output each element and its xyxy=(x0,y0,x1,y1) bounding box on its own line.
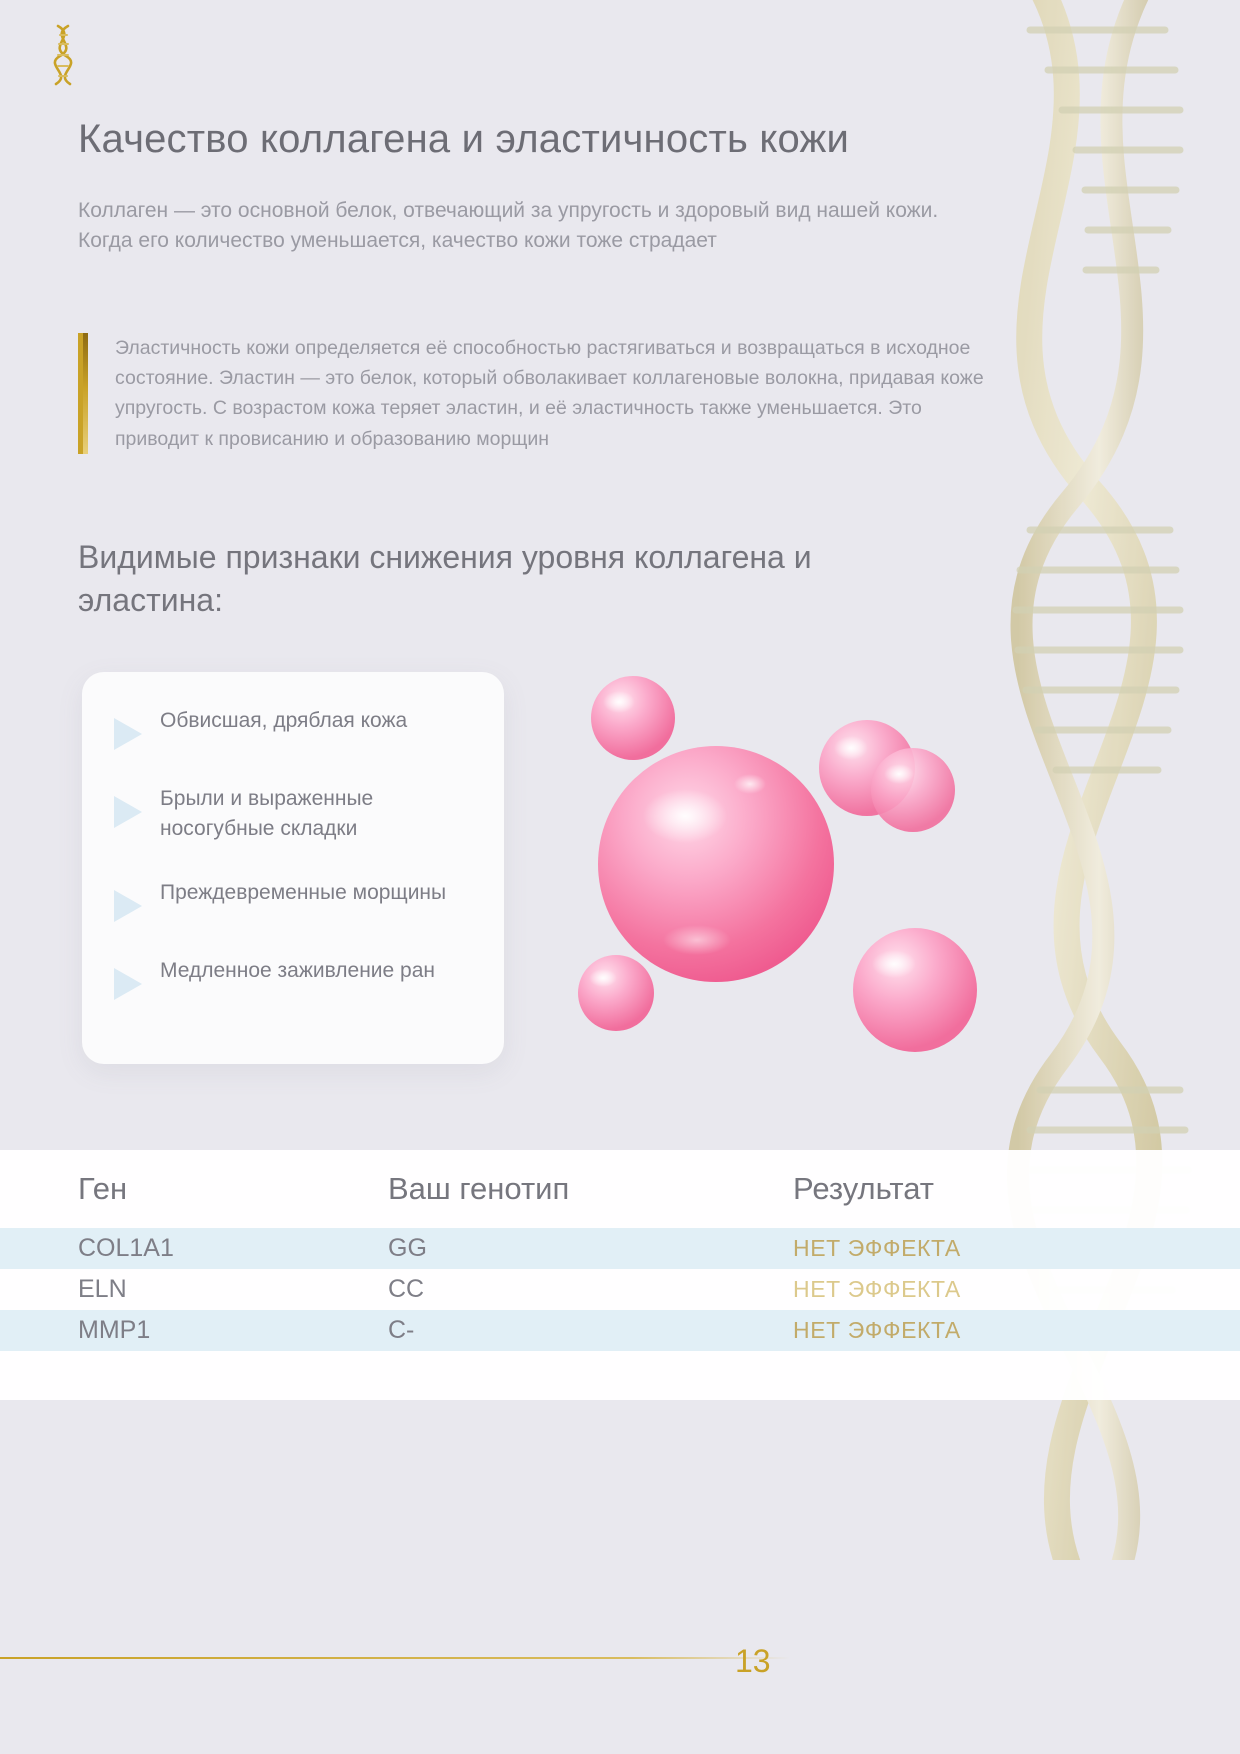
column-header-gene: Ген xyxy=(78,1171,388,1207)
cell-result: НЕТ ЭФФЕКТА xyxy=(793,1276,1162,1303)
page-number: 13 xyxy=(735,1643,771,1680)
page-footer: 13 xyxy=(0,1554,1240,1754)
cell-result: НЕТ ЭФФЕКТА xyxy=(793,1235,1162,1262)
cell-result: НЕТ ЭФФЕКТА xyxy=(793,1317,1162,1344)
triangle-right-icon xyxy=(114,890,142,922)
symptoms-list: Обвисшая, дряблая кожа Брыли и выраженны… xyxy=(106,702,486,1000)
table-header-row: Ген Ваш генотип Результат xyxy=(0,1150,1240,1228)
cell-genotype: CC xyxy=(388,1275,793,1304)
symptoms-card: Обвисшая, дряблая кожа Брыли и выраженны… xyxy=(82,672,504,1064)
section-heading-symptoms: Видимые признаки снижения уровня коллаге… xyxy=(78,536,898,622)
collagen-bubbles-illustration xyxy=(545,660,1025,1090)
page-title: Качество коллагена и эластичность кожи xyxy=(78,116,978,163)
footer-rule xyxy=(0,1657,790,1659)
callout-block: Эластичность кожи определяется её способ… xyxy=(78,333,998,454)
intro-paragraph: Коллаген — это основной белок, отвечающи… xyxy=(78,196,978,257)
list-item-label: Медленное заживление ран xyxy=(160,952,435,986)
cell-genotype: C- xyxy=(388,1316,793,1345)
column-header-result: Результат xyxy=(793,1171,1162,1207)
cell-gene: MMP1 xyxy=(78,1316,388,1345)
report-page: Качество коллагена и эластичность кожи К… xyxy=(0,0,1240,1754)
list-item: Брыли и выраженные носогубные складки xyxy=(106,780,486,844)
list-item: Обвисшая, дряблая кожа xyxy=(106,702,486,750)
list-item: Преждевременные морщины xyxy=(106,874,486,922)
table-row: COL1A1 GG НЕТ ЭФФЕКТА xyxy=(0,1228,1240,1269)
list-item: Медленное заживление ран xyxy=(106,952,486,1000)
dna-logo-icon xyxy=(38,22,92,88)
triangle-right-icon xyxy=(114,968,142,1000)
column-header-genotype: Ваш генотип xyxy=(388,1171,793,1207)
list-item-label: Обвисшая, дряблая кожа xyxy=(160,702,407,736)
cell-genotype: GG xyxy=(388,1234,793,1263)
table-row: MMP1 C- НЕТ ЭФФЕКТА xyxy=(0,1310,1240,1351)
list-item-label: Преждевременные морщины xyxy=(160,874,446,908)
triangle-right-icon xyxy=(114,796,142,828)
list-item-label: Брыли и выраженные носогубные складки xyxy=(160,780,486,844)
brand-logo xyxy=(38,22,92,88)
table-row: ELN CC НЕТ ЭФФЕКТА xyxy=(0,1269,1240,1310)
cell-gene: COL1A1 xyxy=(78,1234,388,1263)
genotype-table: Ген Ваш генотип Результат COL1A1 GG НЕТ … xyxy=(0,1150,1240,1400)
cell-gene: ELN xyxy=(78,1275,388,1304)
triangle-right-icon xyxy=(114,718,142,750)
